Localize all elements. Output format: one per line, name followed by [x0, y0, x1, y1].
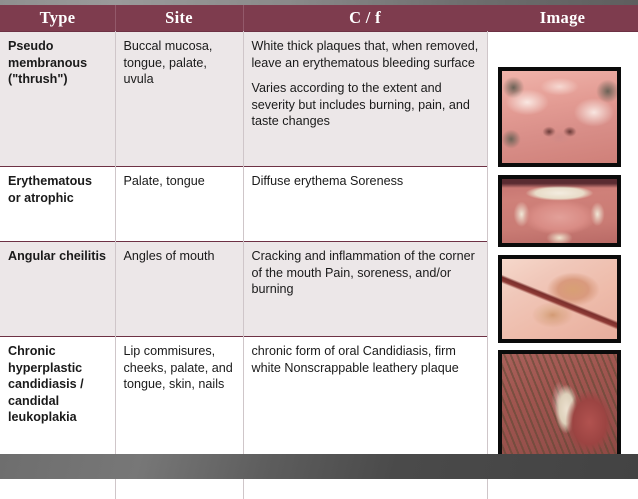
table-row: Pseudo membranous ("thrush") Buccal muco…: [0, 32, 638, 167]
cell-site: Buccal mucosa, tongue, palate, uvula: [115, 32, 243, 167]
bottom-gradient-bar: [0, 454, 638, 479]
cell-type: Pseudo membranous ("thrush"): [0, 32, 115, 167]
clinical-photo-erythematous: [498, 175, 621, 247]
table-body: Pseudo membranous ("thrush") Buccal muco…: [0, 32, 638, 499]
slide-canvas: Type Site C / f Image Pseudo membranous …: [0, 0, 638, 479]
cell-cf: Cracking and inflammation of the corner …: [243, 242, 487, 337]
cell-type: Angular cheilitis: [0, 242, 115, 337]
cell-cf: Diffuse erythema Soreness: [243, 167, 487, 242]
table-header: Type Site C / f Image: [0, 5, 638, 32]
column-header-image: Image: [487, 5, 638, 32]
clinical-photo-pseudomembranous: [498, 67, 621, 167]
cf-paragraph: White thick plaques that, when removed, …: [252, 38, 479, 71]
clinical-photo-angular-cheilitis: [498, 255, 621, 343]
cf-paragraph: Varies according to the extent and sever…: [252, 80, 479, 130]
cell-site: Palate, tongue: [115, 167, 243, 242]
cf-paragraph: chronic form of oral Candidiasis, firm w…: [252, 343, 479, 376]
clinical-photo-hyperplastic-candidiasis: [498, 350, 621, 468]
column-header-cf: C / f: [243, 5, 487, 32]
table-header-row: Type Site C / f Image: [0, 5, 638, 32]
column-header-site: Site: [115, 5, 243, 32]
cell-cf: White thick plaques that, when removed, …: [243, 32, 487, 167]
cell-site: Angles of mouth: [115, 242, 243, 337]
cell-type: Erythematous or atrophic: [0, 167, 115, 242]
column-header-type: Type: [0, 5, 115, 32]
cf-paragraph: Cracking and inflammation of the corner …: [252, 248, 479, 298]
cf-paragraph: Diffuse erythema Soreness: [252, 173, 479, 190]
cell-image-column: [487, 32, 638, 499]
candidiasis-types-table: Type Site C / f Image Pseudo membranous …: [0, 5, 638, 499]
